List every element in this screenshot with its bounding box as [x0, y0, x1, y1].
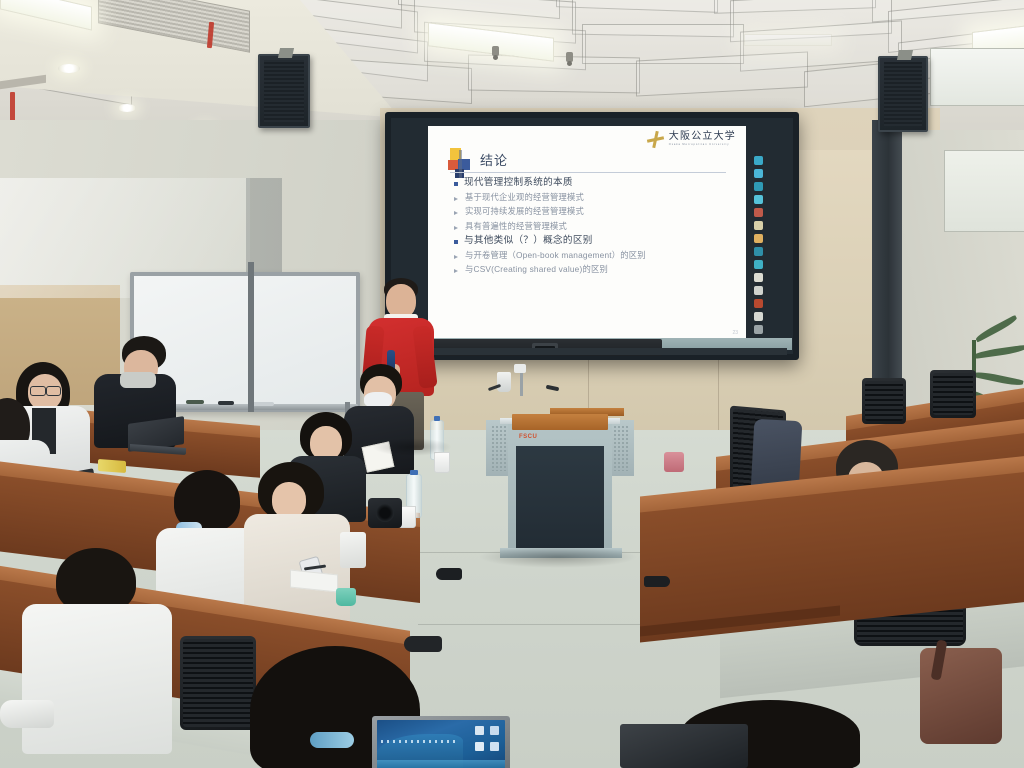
marker-3[interactable]	[252, 402, 274, 406]
bottle-cap	[410, 470, 418, 475]
bullet-arrow-icon	[454, 254, 459, 260]
sprinkler-head-1	[492, 46, 499, 56]
foreground-laptop[interactable]	[372, 716, 512, 768]
whiteboard-frame-post	[248, 262, 254, 412]
lectern-front-panel	[516, 446, 604, 550]
chair-backrest	[180, 636, 256, 730]
bullet-text: 现代管理控制系统的本质	[464, 178, 573, 188]
laptop-base	[130, 444, 186, 455]
display-lower-bezel	[385, 348, 787, 355]
chair-right-far[interactable]	[930, 370, 976, 430]
camera-lens-icon	[376, 504, 394, 522]
desktop-icon-2[interactable]	[490, 726, 499, 735]
foreground-monitor-right	[620, 724, 748, 768]
lectern-brand-mark: FSCU	[519, 434, 537, 440]
slide-bullet-item: 实现可持续发展的经营管理模式	[454, 207, 738, 216]
speaker-bracket-right	[897, 50, 913, 60]
folder-icon[interactable]	[754, 182, 763, 191]
eyeglasses-icon	[46, 386, 61, 396]
university-logo: 大阪公立大学 Osaka Metropolitan University	[647, 131, 736, 148]
music-icon[interactable]	[754, 286, 763, 295]
lectern-wood-front	[512, 414, 608, 430]
lectern-cup[interactable]	[497, 372, 511, 392]
chat-icon[interactable]	[754, 273, 763, 282]
cloud-icon[interactable]	[754, 312, 763, 321]
head	[310, 426, 342, 460]
presenter-head	[386, 284, 416, 318]
downlight-2	[118, 104, 136, 112]
slide-title-rule	[450, 172, 726, 173]
palm-frond	[973, 370, 1023, 387]
speaker-grille-right	[884, 62, 922, 126]
eyeglasses-icon	[30, 386, 46, 396]
laptop-screen[interactable]	[377, 720, 505, 768]
speaker-grille-left	[264, 60, 304, 122]
chair-backrest	[862, 378, 906, 424]
shoe-presenter-right	[644, 576, 670, 587]
hoodie-collar	[120, 372, 156, 388]
pdf-icon[interactable]	[754, 299, 763, 308]
wall-speaker-right	[878, 56, 928, 132]
bullet-arrow-icon	[454, 196, 459, 202]
chair-mesh	[933, 373, 973, 415]
hair-tie	[310, 732, 354, 748]
chair-front-left[interactable]	[180, 636, 256, 738]
speaker-bracket-left	[278, 48, 294, 58]
display-taskbar[interactable]	[752, 156, 765, 314]
wallpaper-bridge-rail	[381, 740, 459, 743]
bullet-text: 实现可持续发展的经营管理模式	[465, 207, 584, 216]
media-icon[interactable]	[754, 208, 763, 217]
shoe-presenter-left	[436, 568, 462, 580]
ceiling-light-4	[744, 34, 832, 46]
right-window-upper	[930, 48, 1024, 106]
chair-backrest	[930, 370, 976, 418]
shoe-white-2	[0, 700, 54, 728]
terminal-icon[interactable]	[754, 247, 763, 256]
desktop-icon-1[interactable]	[475, 726, 484, 735]
head	[272, 482, 306, 518]
slide-bullet-list: 现代管理控制系统的本质 基于现代企业观的经营管理模式 实现可持续发展的经营管理模…	[454, 178, 738, 279]
lectern[interactable]: FSCU	[486, 394, 634, 554]
bullet-text: 与开卷管理（Open-book management）的区别	[465, 251, 646, 260]
desktop-icon-4[interactable]	[490, 742, 499, 751]
bag-on-floor-right	[920, 648, 1002, 744]
notes-icon[interactable]	[754, 195, 763, 204]
bullet-arrow-icon	[454, 210, 459, 216]
slide-bullet-item: 与CSV(Creating shared value)的区别	[454, 265, 738, 274]
sprinkler-head-2	[566, 52, 573, 62]
deco-bar-vertical	[459, 150, 462, 178]
downlight-1	[58, 64, 80, 73]
torso-white-puffer	[22, 604, 172, 754]
slide-canvas: 大阪公立大学 Osaka Metropolitan University 结论	[428, 126, 746, 340]
mail-icon[interactable]	[754, 169, 763, 178]
desktop-icon-3[interactable]	[475, 742, 484, 751]
lectern-mic-head	[514, 364, 526, 373]
camera-icon[interactable]	[754, 260, 763, 269]
wall-speaker-left	[258, 54, 310, 128]
logo-japanese-name: 大阪公立大学	[669, 132, 736, 142]
green-cup-left[interactable]	[336, 588, 356, 606]
laptop-left-1[interactable]	[128, 420, 186, 454]
shoe-audience-front	[404, 636, 442, 652]
calculator-icon[interactable]	[754, 221, 763, 230]
lock-icon[interactable]	[754, 325, 763, 334]
slide-bullet-item: 现代管理控制系统的本质	[454, 178, 738, 188]
bullet-text: 基于现代企业观的经营管理模式	[465, 193, 584, 202]
palm-frond	[974, 345, 1024, 359]
bottle-cap	[434, 416, 441, 421]
tissue-box[interactable]	[340, 532, 366, 568]
floor-shadow-presenter	[372, 438, 452, 456]
slide-bullet-item: 具有普遍性的经营管理模式	[454, 222, 738, 231]
slide-title: 结论	[480, 150, 508, 169]
browser-icon[interactable]	[754, 156, 763, 165]
audience-person-front-left	[22, 548, 172, 768]
slide-bullet-item: 与开卷管理（Open-book management）的区别	[454, 251, 738, 260]
slide-bullet-item: 基于现代企业观的经营管理模式	[454, 193, 738, 202]
logo-english-name: Osaka Metropolitan University	[669, 144, 736, 147]
slide-bullet-item: 与其他类似（？）概念的区别	[454, 236, 738, 246]
lecture-hall-scene: 大阪公立大学 Osaka Metropolitan University 结论	[0, 0, 1024, 768]
bullet-arrow-icon	[454, 268, 459, 274]
bullet-arrow-icon	[454, 225, 459, 231]
bullet-text: 与CSV(Creating shared value)的区别	[465, 265, 608, 274]
chair-mesh	[183, 639, 253, 727]
lectern-perforation-right	[613, 425, 629, 471]
right-pillar	[872, 120, 902, 410]
pink-cup-right[interactable]	[664, 452, 684, 472]
bullet-text: 具有普遍性的经营管理模式	[465, 222, 567, 231]
bullet-text: 与其他类似（？）概念的区别	[464, 236, 593, 246]
bullet-square-icon	[454, 182, 458, 186]
bullet-square-icon	[454, 240, 458, 244]
chair-right-far-2[interactable]	[862, 378, 906, 438]
snack-pack-left[interactable]	[98, 459, 126, 473]
wallpaper-water	[377, 760, 505, 768]
display-screen: 大阪公立大学 Osaka Metropolitan University 结论	[391, 118, 793, 354]
presentation-display[interactable]: 大阪公立大学 Osaka Metropolitan University 结论	[385, 112, 799, 360]
marker-1[interactable]	[186, 400, 204, 404]
settings-icon[interactable]	[754, 234, 763, 243]
right-window-lower	[944, 150, 1024, 232]
lectern-perforation-left	[491, 425, 507, 471]
slide-decoration	[448, 148, 472, 178]
chair-mesh	[865, 381, 903, 421]
flower-mark-icon	[647, 131, 664, 148]
marker-2[interactable]	[218, 401, 234, 405]
slide-page-number: 23	[732, 330, 738, 336]
floor-shadow-podium	[478, 546, 638, 568]
